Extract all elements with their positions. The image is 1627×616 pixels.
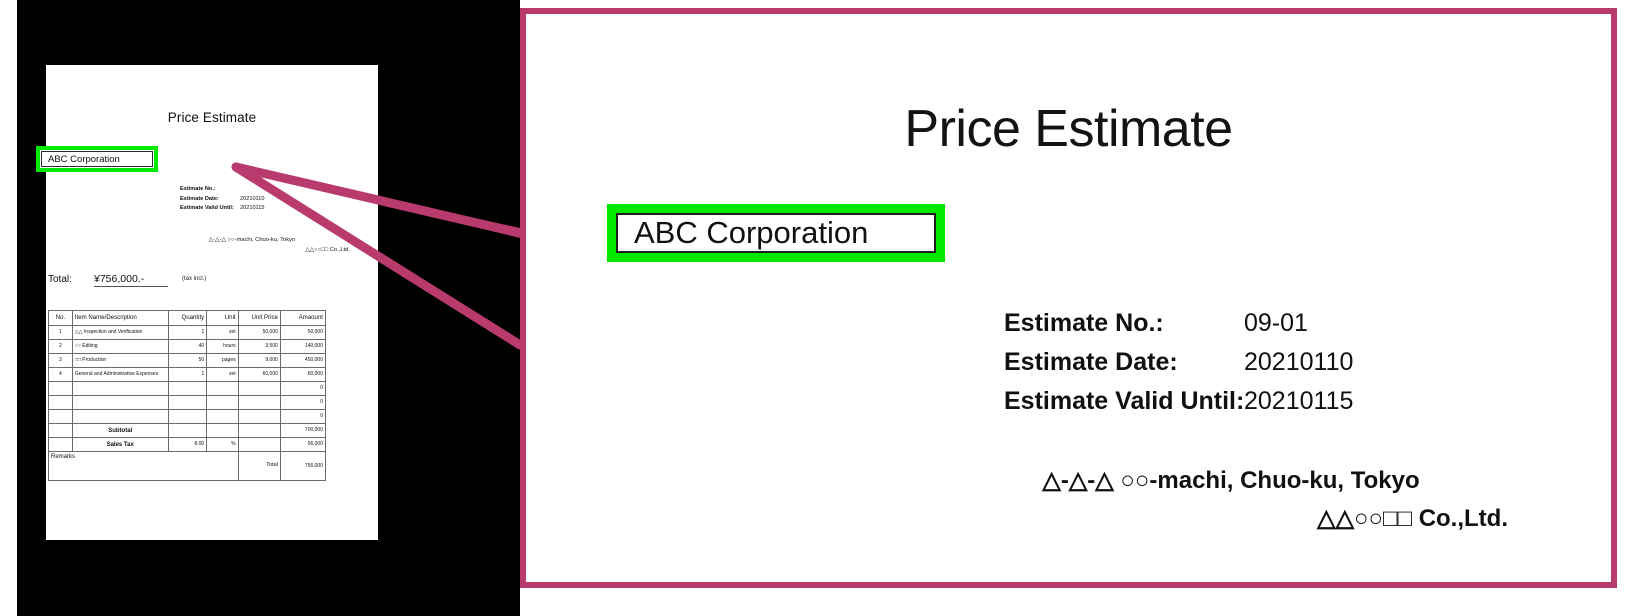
cell-desc: ○○ Editing — [72, 340, 168, 354]
zoom-address-line-2: △△○○□□ Co.,Ltd. — [866, 500, 1596, 538]
zoom-meta-row: Estimate Date:20210110 — [1004, 343, 1353, 382]
header-unitprice: Unit Price — [238, 311, 280, 326]
cell-unit — [207, 410, 238, 424]
cell-unit: set — [207, 368, 238, 382]
remarks-row: Remarks Total 756,000 — [49, 452, 326, 481]
document-title: Price Estimate — [46, 110, 378, 125]
company-name-thumbnail: ABC Corporation — [41, 151, 153, 167]
cell-desc — [72, 396, 168, 410]
cell-unitprice — [238, 382, 280, 396]
subtotal-row: Subtotal 700,000 — [49, 424, 326, 438]
tax-amount: 56,000 — [280, 438, 325, 452]
estimate-date-label: Estimate Date: — [180, 195, 240, 205]
remarks-label: Remarks — [49, 452, 239, 481]
grand-total-amount: 756,000 — [280, 452, 325, 481]
meta-row: Estimate No.: — [180, 185, 264, 195]
cell-qty: 40 — [168, 340, 207, 354]
cell-qty: 1 — [168, 368, 207, 382]
address-line-2: △△○○□□ Co.,Ltd. — [146, 245, 358, 255]
zoom-document-title: Price Estimate — [526, 99, 1611, 159]
cell-amount: 140,000 — [280, 340, 325, 354]
estimate-meta-thumbnail: Estimate No.: Estimate Date:20210110 Est… — [180, 185, 264, 214]
header-quantity: Quantity — [168, 311, 207, 326]
zoom-estimate-meta: Estimate No.:09-01 Estimate Date:2021011… — [1004, 304, 1353, 421]
cell-qty: 1 — [168, 326, 207, 340]
estimate-valid-until-label: Estimate Valid Until: — [180, 204, 240, 214]
cell-amount: 0 — [280, 382, 325, 396]
cell-unitprice: 60,000 — [238, 368, 280, 382]
table-header-row: No. Item Name/Description Quantity Unit … — [49, 311, 326, 326]
cell-desc — [72, 382, 168, 396]
total-line-thumbnail: Total:¥756,000.-(tax incl.) — [48, 273, 368, 287]
tax-row: Sales Tax 8.00 % 56,000 — [49, 438, 326, 452]
cell-amount: 60,000 — [280, 368, 325, 382]
zoom-meta-row: Estimate No.:09-01 — [1004, 304, 1353, 343]
zoom-company-name: ABC Corporation — [616, 213, 936, 253]
cell-unitprice: 50,000 — [238, 326, 280, 340]
zoom-estimate-no-label: Estimate No.: — [1004, 304, 1244, 343]
cell-qty — [168, 396, 207, 410]
address-block-thumbnail: △-△-△ ○○-machi, Chuo-ku, Tokyo △△○○□□ Co… — [146, 235, 358, 255]
cell-desc: △△ Inspection and Verification — [72, 326, 168, 340]
subtotal-amount: 700,000 — [280, 424, 325, 438]
tax-unitprice-empty — [238, 438, 280, 452]
cell-no: 3 — [49, 354, 73, 368]
zoom-meta-row: Estimate Valid Until:20210115 — [1004, 382, 1353, 421]
screenshot-root: Price Estimate ABC Corporation Estimate … — [0, 0, 1627, 616]
header-desc: Item Name/Description — [72, 311, 168, 326]
cell-amount: 50,000 — [280, 326, 325, 340]
zoom-estimate-date-value: 20210110 — [1244, 343, 1353, 382]
address-line-1: △-△-△ ○○-machi, Chuo-ku, Tokyo — [146, 235, 358, 245]
table-row: 3 □□ Production 50 pages 9,000 450,000 — [49, 354, 326, 368]
meta-row: Estimate Date:20210110 — [180, 195, 264, 205]
zoom-panel: Price Estimate ABC Corporation Estimate … — [520, 8, 1617, 588]
total-tax-note: (tax incl.) — [182, 276, 206, 282]
cell-desc — [72, 410, 168, 424]
cell-amount: 0 — [280, 410, 325, 424]
cell-qty — [168, 410, 207, 424]
cell-no — [49, 396, 73, 410]
cell-no — [49, 410, 73, 424]
table-row: 0 — [49, 382, 326, 396]
cell-unitprice: 3,500 — [238, 340, 280, 354]
cell-unitprice — [238, 396, 280, 410]
cell-qty: 50 — [168, 354, 207, 368]
cell-no: 1 — [49, 326, 73, 340]
tax-spacer — [49, 438, 73, 452]
table-row: 4 General and Administrative Expenses 1 … — [49, 368, 326, 382]
cell-unit: set — [207, 326, 238, 340]
total-amount: ¥756,000.- — [94, 273, 168, 287]
estimate-date-value: 20210110 — [240, 195, 264, 205]
grand-total-label: Total — [238, 452, 280, 481]
cell-unit — [207, 396, 238, 410]
zoom-address-block: △-△-△ ○○-machi, Chuo-ku, Tokyo △△○○□□ Co… — [866, 462, 1596, 538]
table-row: 0 — [49, 396, 326, 410]
zoom-company-name-highlight-box: ABC Corporation — [607, 204, 945, 262]
table-row: 2 ○○ Editing 40 hours 3,500 140,000 — [49, 340, 326, 354]
zoom-address-line-1: △-△-△ ○○-machi, Chuo-ku, Tokyo — [866, 462, 1596, 500]
estimate-no-label: Estimate No.: — [180, 185, 240, 195]
cell-desc: □□ Production — [72, 354, 168, 368]
subtotal-spacer — [49, 424, 73, 438]
cell-unitprice: 9,000 — [238, 354, 280, 368]
estimate-valid-until-value: 20210115 — [240, 204, 264, 214]
cell-no: 2 — [49, 340, 73, 354]
table-row: 1 △△ Inspection and Verification 1 set 5… — [49, 326, 326, 340]
header-unit: Unit — [207, 311, 238, 326]
table-row: 0 — [49, 410, 326, 424]
tax-rate: 8.00 — [168, 438, 207, 452]
cell-no — [49, 382, 73, 396]
document-thumbnail[interactable]: Price Estimate ABC Corporation Estimate … — [46, 65, 378, 540]
tax-label: Sales Tax — [72, 438, 168, 452]
cell-desc: General and Administrative Expenses — [72, 368, 168, 382]
line-items-table[interactable]: No. Item Name/Description Quantity Unit … — [48, 310, 326, 481]
cell-unitprice — [238, 410, 280, 424]
subtotal-unit-empty — [207, 424, 238, 438]
cell-unit — [207, 382, 238, 396]
subtotal-unitprice-empty — [238, 424, 280, 438]
cell-amount: 450,000 — [280, 354, 325, 368]
company-name-highlight-box: ABC Corporation — [36, 146, 158, 172]
subtotal-qty-empty — [168, 424, 207, 438]
tax-percent-symbol: % — [207, 438, 238, 452]
meta-row: Estimate Valid Until:20210115 — [180, 204, 264, 214]
total-label: Total: — [48, 274, 94, 285]
cell-amount: 0 — [280, 396, 325, 410]
header-no: No. — [49, 311, 73, 326]
zoom-estimate-date-label: Estimate Date: — [1004, 343, 1244, 382]
cell-no: 4 — [49, 368, 73, 382]
header-amount: Amaount — [280, 311, 325, 326]
cell-qty — [168, 382, 207, 396]
zoom-estimate-valid-until-value: 20210115 — [1244, 382, 1353, 421]
zoom-estimate-valid-until-label: Estimate Valid Until: — [1004, 382, 1244, 421]
cell-unit: hours — [207, 340, 238, 354]
subtotal-label: Subtotal — [72, 424, 168, 438]
cell-unit: pages — [207, 354, 238, 368]
zoom-estimate-no-value: 09-01 — [1244, 304, 1308, 343]
